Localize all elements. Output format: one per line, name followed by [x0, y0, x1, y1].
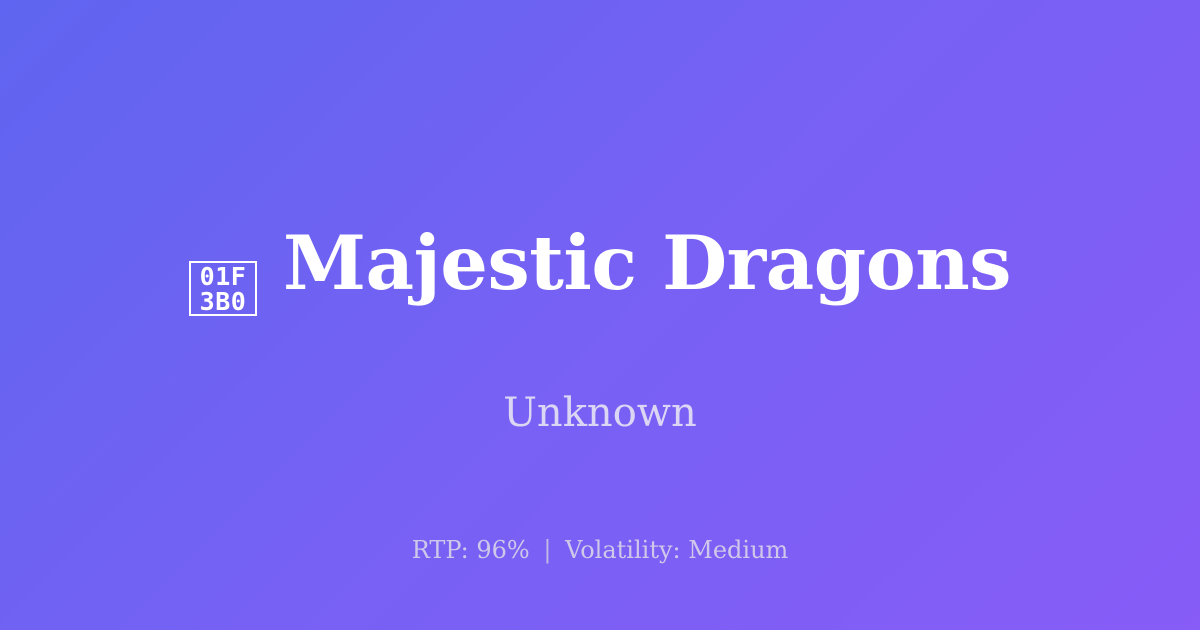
rtp-value: RTP: 96%: [412, 536, 530, 564]
codepoint-hex-top: 01F: [200, 264, 247, 289]
codepoint-hex-bottom: 3B0: [200, 289, 247, 314]
game-preview-card: 01F 3B0 Majestic Dragons Unknown RTP: 96…: [0, 0, 1200, 630]
title-row: 01F 3B0 Majestic Dragons: [189, 175, 1011, 351]
meta-separator: |: [537, 538, 557, 562]
volatility-value: Volatility: Medium: [565, 536, 788, 564]
provider-subtitle: Unknown: [503, 393, 697, 433]
game-meta-line: RTP: 96% | Volatility: Medium: [0, 538, 1200, 562]
slot-machine-emoji-fallback-icon: 01F 3B0: [189, 261, 257, 316]
page-title: Majestic Dragons: [283, 226, 1011, 301]
